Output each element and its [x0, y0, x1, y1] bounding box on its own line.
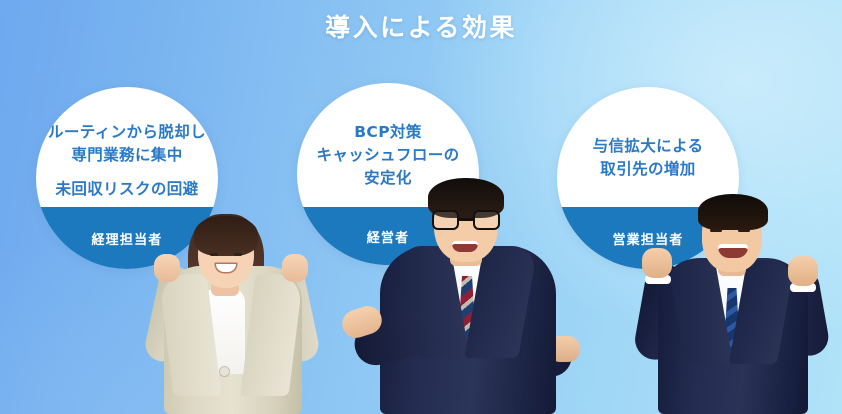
eye-left — [710, 229, 722, 232]
fist-left — [642, 248, 672, 278]
copy-line: ルーティンから脱却し — [48, 123, 206, 141]
glasses-icon — [432, 210, 500, 230]
glasses-bridge — [459, 218, 473, 221]
promo-banner: 導入による効果 ルーティンから脱却し 専門業務に集中 未回収リスクの回避 経理担… — [0, 0, 842, 414]
copy-line: BCP対策 — [354, 123, 422, 141]
copy-spacer — [36, 167, 218, 178]
lens-left — [432, 210, 459, 230]
lens-right — [473, 210, 500, 230]
person-photo-sales-staff — [636, 174, 826, 414]
copy-line: 専門業務に集中 — [71, 146, 182, 164]
person-photo-accounting-staff — [148, 184, 316, 414]
mouth — [718, 244, 748, 258]
page-title: 導入による効果 — [0, 8, 842, 44]
eye-left — [210, 253, 218, 256]
blazer-button — [220, 367, 229, 376]
eye-right — [234, 253, 242, 256]
person-photo-executive — [362, 154, 572, 414]
mouth — [452, 241, 478, 252]
eye-right — [738, 229, 750, 232]
fist-left — [154, 254, 180, 282]
hair — [698, 194, 768, 230]
fist-right — [282, 254, 308, 282]
hair-front — [194, 216, 258, 256]
copy-line: 与信拡大による — [593, 137, 704, 155]
fist-right — [788, 256, 818, 286]
